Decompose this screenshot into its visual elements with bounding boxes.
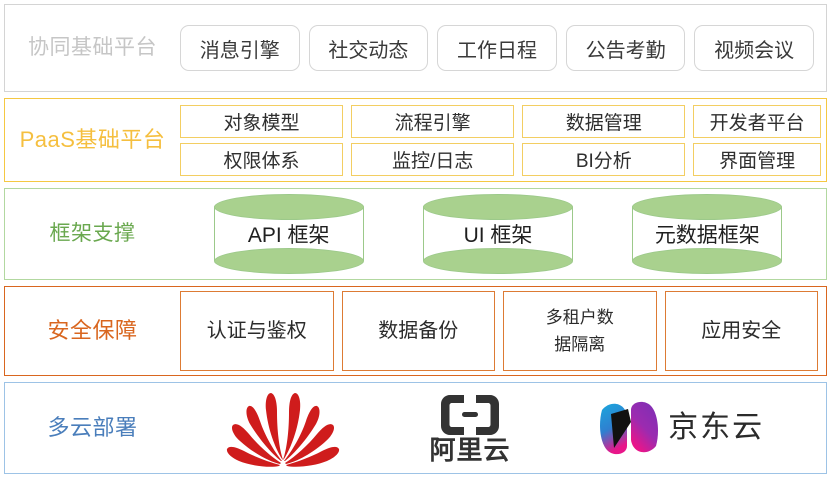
layer-framework-items: API 框架 UI 框架 元数据框架 xyxy=(180,189,826,279)
framework-item-metadata-label: 元数据框架 xyxy=(632,219,782,249)
framework-item-metadata[interactable]: 元数据框架 xyxy=(632,194,782,274)
paas-item-permission-system[interactable]: 权限体系 xyxy=(180,143,343,176)
paas-item-data-management[interactable]: 数据管理 xyxy=(522,105,685,138)
collab-item-work-schedule[interactable]: 工作日程 xyxy=(437,25,557,71)
paas-item-developer-platform[interactable]: 开发者平台 xyxy=(693,105,821,138)
paas-item-monitoring-logging[interactable]: 监控/日志 xyxy=(351,143,514,176)
collab-item-message-engine[interactable]: 消息引擎 xyxy=(180,25,300,71)
layer-multicloud-deployment: 多云部署 xyxy=(4,382,827,474)
collab-item-announcement-attendance[interactable]: 公告考勤 xyxy=(566,25,686,71)
layer-paas-platform: PaaS基础平台 对象模型 流程引擎 数据管理 开发者平台 权限体系 监控/日志… xyxy=(4,98,827,182)
cloud-vendor-huawei[interactable] xyxy=(224,388,342,468)
security-item-multitenant-isolation-line2: 据隔离 xyxy=(554,331,605,358)
collab-item-video-conference[interactable]: 视频会议 xyxy=(694,25,814,71)
layer-framework-support: 框架支撑 API 框架 UI 框架 元数据框架 xyxy=(4,188,827,280)
huawei-logo-icon xyxy=(224,388,342,468)
paas-item-bi-analysis[interactable]: BI分析 xyxy=(522,143,685,176)
security-item-multitenant-isolation[interactable]: 多租户数 据隔离 xyxy=(503,291,657,371)
cylinder-top-ellipse xyxy=(214,194,364,220)
layer-paas-label: PaaS基础平台 xyxy=(5,128,180,152)
cylinder-bottom-ellipse xyxy=(214,248,364,274)
paas-row-2: 权限体系 监控/日志 BI分析 界面管理 xyxy=(180,143,821,176)
security-item-authentication[interactable]: 认证与鉴权 xyxy=(180,291,334,371)
security-item-data-backup[interactable]: 数据备份 xyxy=(342,291,496,371)
framework-item-api-label: API 框架 xyxy=(214,219,364,249)
cylinder-bottom-ellipse xyxy=(632,248,782,274)
cloud-vendor-aliyun[interactable]: 阿里云 xyxy=(429,394,510,463)
layer-paas-items: 对象模型 流程引擎 数据管理 开发者平台 权限体系 监控/日志 BI分析 界面管… xyxy=(180,99,826,181)
layer-collab-items: 消息引擎 社交动态 工作日程 公告考勤 视频会议 xyxy=(180,5,826,91)
collab-item-social-feed[interactable]: 社交动态 xyxy=(309,25,429,71)
layer-cloud-label: 多云部署 xyxy=(5,416,180,440)
framework-item-ui-label: UI 框架 xyxy=(423,219,573,249)
cylinder-bottom-ellipse xyxy=(423,248,573,274)
aliyun-logo-text: 阿里云 xyxy=(429,437,510,463)
paas-row-1: 对象模型 流程引擎 数据管理 开发者平台 xyxy=(180,105,821,138)
architecture-diagram: 协同基础平台 消息引擎 社交动态 工作日程 公告考勤 视频会议 PaaS基础平台… xyxy=(0,0,831,479)
layer-security-label: 安全保障 xyxy=(5,319,180,343)
jdcloud-logo-icon xyxy=(598,400,660,456)
layer-framework-label: 框架支撑 xyxy=(5,222,180,245)
security-item-application-security[interactable]: 应用安全 xyxy=(665,291,819,371)
framework-item-api[interactable]: API 框架 xyxy=(214,194,364,274)
security-item-multitenant-isolation-line1: 多租户数 xyxy=(546,304,614,331)
layer-collab-label: 协同基础平台 xyxy=(5,36,180,59)
layer-cloud-items: 阿里云 xyxy=(180,383,826,473)
aliyun-logo-icon xyxy=(441,394,499,436)
layer-collab-platform: 协同基础平台 消息引擎 社交动态 工作日程 公告考勤 视频会议 xyxy=(4,4,827,92)
paas-item-ui-management[interactable]: 界面管理 xyxy=(693,143,821,176)
paas-item-process-engine[interactable]: 流程引擎 xyxy=(351,105,514,138)
layer-security-assurance: 安全保障 认证与鉴权 数据备份 多租户数 据隔离 应用安全 xyxy=(4,286,827,376)
framework-item-ui[interactable]: UI 框架 xyxy=(423,194,573,274)
cloud-vendor-jdcloud[interactable]: 京东云 xyxy=(598,400,764,456)
cylinder-top-ellipse xyxy=(632,194,782,220)
jdcloud-logo-text: 京东云 xyxy=(668,413,764,443)
cylinder-top-ellipse xyxy=(423,194,573,220)
paas-item-object-model[interactable]: 对象模型 xyxy=(180,105,343,138)
layer-security-items: 认证与鉴权 数据备份 多租户数 据隔离 应用安全 xyxy=(180,287,826,375)
